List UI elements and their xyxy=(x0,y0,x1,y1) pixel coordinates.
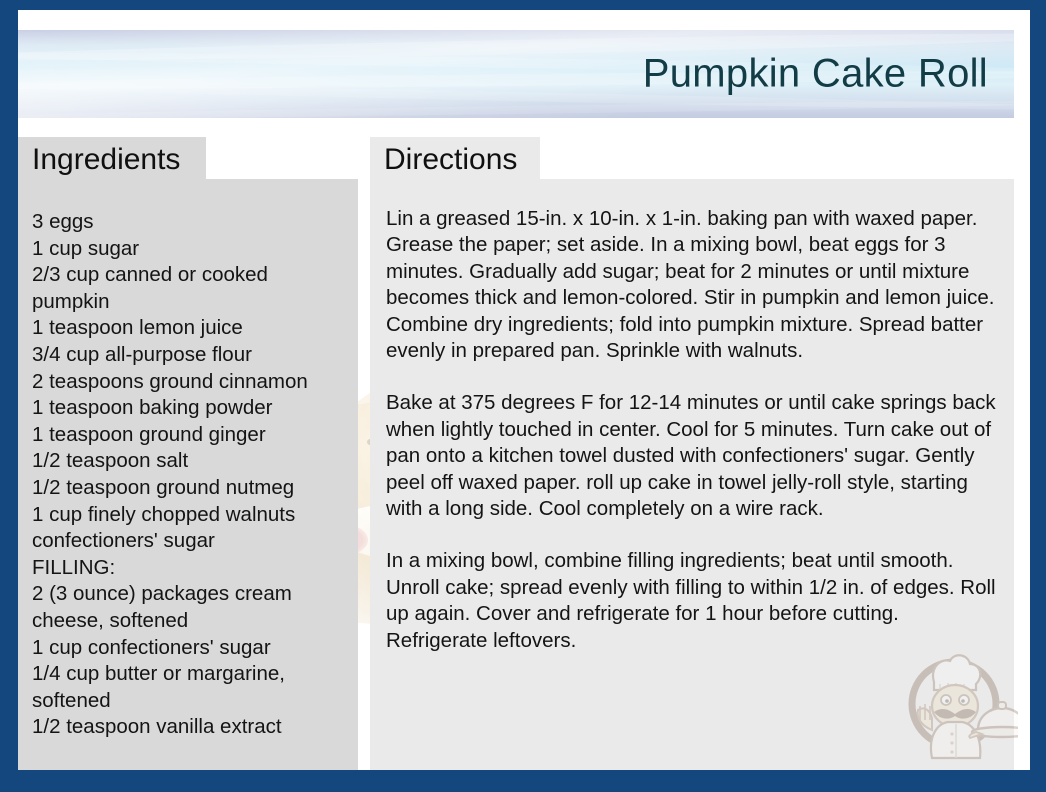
ingredients-heading-tab: Ingredients xyxy=(18,137,206,179)
directions-panel: Lin a greased 15-in. x 10-in. x 1-in. ba… xyxy=(370,179,1014,770)
directions-paragraph: In a mixing bowl, combine filling ingred… xyxy=(386,548,1000,654)
ingredients-panel: 3 eggs 1 cup sugar 2/3 cup canned or coo… xyxy=(18,179,358,770)
directions-paragraph: Lin a greased 15-in. x 10-in. x 1-in. ba… xyxy=(386,206,1000,364)
ingredients-heading-label: Ingredients xyxy=(32,143,180,176)
directions-paragraph: Bake at 375 degrees F for 12-14 minutes … xyxy=(386,390,1000,522)
ingredients-list: 3 eggs 1 cup sugar 2/3 cup canned or coo… xyxy=(32,209,344,741)
recipe-title: Pumpkin Cake Roll xyxy=(643,52,988,97)
recipe-page: Pumpkin Cake Roll xyxy=(18,10,1030,770)
title-banner: Pumpkin Cake Roll xyxy=(18,30,1014,118)
directions-heading-tab: Directions xyxy=(370,137,540,179)
directions-heading-label: Directions xyxy=(384,143,517,176)
recipe-card: Pumpkin Cake Roll xyxy=(0,0,1046,792)
